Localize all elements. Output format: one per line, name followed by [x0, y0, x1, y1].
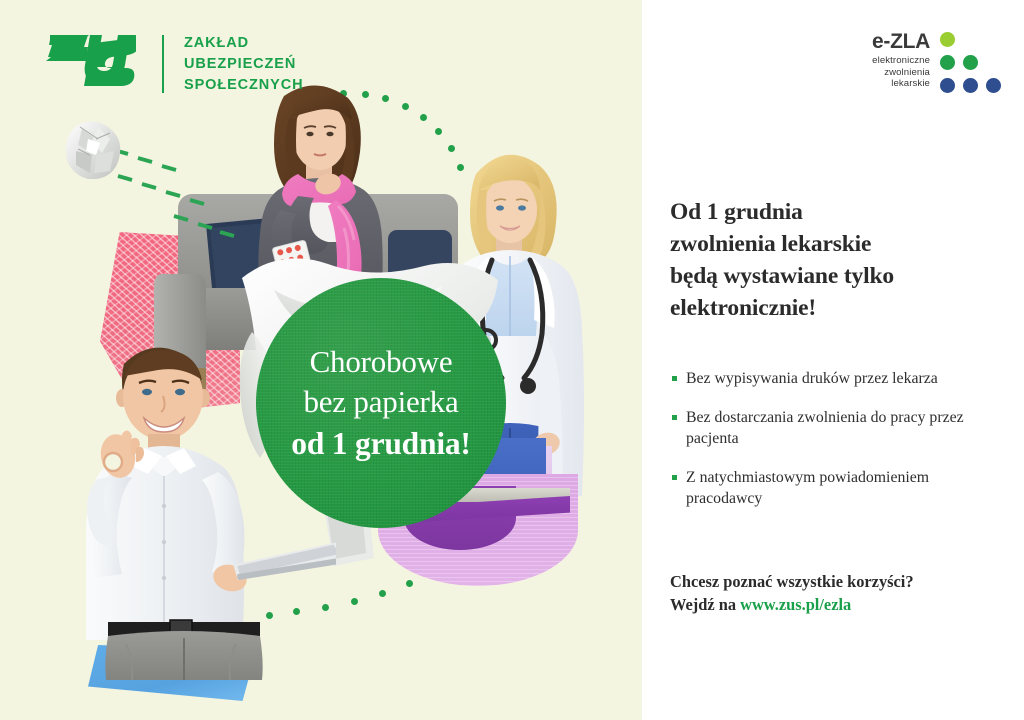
ezla-dot-blue-1 [940, 78, 955, 93]
benefit-text: Bez dostarczania zwolnienia do pracy prz… [686, 409, 964, 448]
photo-collage: Chorobowe bez papierka od 1 grudnia! [0, 0, 642, 720]
cta-line: Wejdź na www.zus.pl/ezla [670, 593, 1000, 616]
badge-line-1: Chorobowe [310, 342, 453, 382]
badge-line-3: od 1 grudnia! [291, 424, 470, 464]
slogan-badge: Chorobowe bez papierka od 1 grudnia! [256, 278, 506, 528]
list-item: Bez dostarczania zwolnienia do pracy prz… [670, 407, 990, 450]
ezla-subtitle: elektroniczne zwolnienia lekarskie [840, 55, 930, 90]
bullet-icon [672, 376, 677, 381]
text-panel: e-ZLA elektroniczne zwolnienia lekarskie… [642, 0, 1024, 720]
logo-divider [162, 35, 164, 93]
bullet-icon [672, 415, 677, 420]
ezla-sub-line-3: lekarskie [840, 78, 930, 90]
zus-ezla-poster: Chorobowe bez papierka od 1 grudnia! [0, 0, 1024, 720]
ezla-sub-line-1: elektroniczne [840, 55, 930, 67]
benefit-text: Z natychmiastowym powiadomieniem pracoda… [686, 469, 929, 508]
zus-word-line-3: SPOŁECZNYCH [184, 75, 303, 96]
cta-question: Chcesz poznać wszystkie korzyści? [670, 570, 1000, 593]
ezla-title: e-ZLA [852, 30, 930, 54]
list-item: Z natychmiastowym powiadomieniem pracoda… [670, 467, 990, 510]
headline-line-1: Od 1 grudnia [670, 196, 990, 228]
zus-logo: ZAKŁAD UBEZPIECZEŃ SPOŁECZNYCH [44, 33, 306, 99]
cta-prefix: Wejdź na [670, 595, 740, 614]
zus-logo-words: ZAKŁAD UBEZPIECZEŃ SPOŁECZNYCH [184, 33, 303, 96]
crumpled-paper-icon [66, 117, 124, 179]
headline-line-4: elektronicznie! [670, 292, 990, 324]
ezla-dot-green-2 [963, 55, 978, 70]
cta-url-link[interactable]: www.zus.pl/ezla [740, 595, 851, 614]
collage-panel: Chorobowe bez papierka od 1 grudnia! [0, 0, 642, 720]
bullet-icon [672, 475, 677, 480]
ezla-dot-light-green [940, 32, 955, 47]
zus-word-line-1: ZAKŁAD [184, 33, 303, 54]
zus-word-line-2: UBEZPIECZEŃ [184, 54, 303, 75]
ezla-dot-green-1 [940, 55, 955, 70]
headline-line-2: zwolnienia lekarskie [670, 228, 990, 260]
zus-wordmark-icon [44, 33, 136, 87]
ezla-dot-blue-2 [963, 78, 978, 93]
ezla-sub-line-2: zwolnienia [840, 67, 930, 79]
list-item: Bez wypisywania druków przez lekarza [670, 368, 990, 390]
badge-line-2: bez papierka [303, 382, 458, 422]
headline-line-3: będą wystawiane tylko [670, 260, 990, 292]
call-to-action: Chcesz poznać wszystkie korzyści? Wejdź … [670, 570, 1000, 616]
ezla-dot-blue-3 [986, 78, 1001, 93]
headline: Od 1 grudnia zwolnienia lekarskie będą w… [670, 196, 990, 324]
ezla-dot-matrix [940, 32, 1002, 94]
benefit-text: Bez wypisywania druków przez lekarza [686, 370, 938, 387]
ezla-logo: e-ZLA elektroniczne zwolnienia lekarskie [852, 30, 1002, 102]
benefits-list: Bez wypisywania druków przez lekarza Bez… [670, 368, 990, 527]
